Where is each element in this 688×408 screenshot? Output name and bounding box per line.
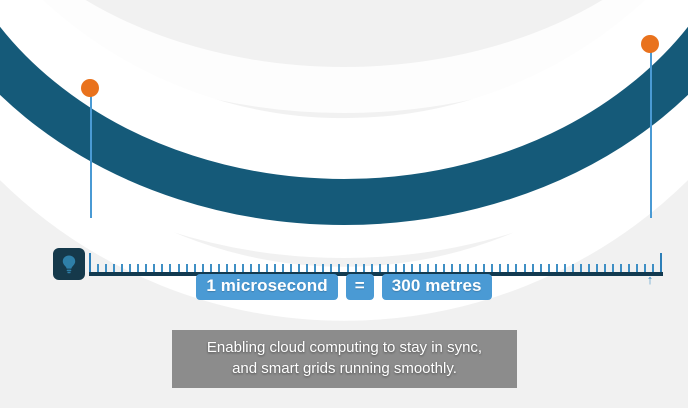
right-marker-dot (641, 35, 659, 53)
right-marker-line (650, 52, 652, 218)
video-frame: ↑ 1 microsecond = 300 metres Enabling cl… (0, 0, 688, 408)
subtitle-caption: Enabling cloud computing to stay in sync… (172, 330, 517, 388)
caption-line-1: Enabling cloud computing to stay in sync… (178, 337, 511, 358)
caption-line-2: and smart grids running smoothly. (178, 358, 511, 379)
left-marker-dot (81, 79, 99, 97)
equation-row: 1 microsecond = 300 metres (0, 274, 688, 300)
lightbulb-icon (60, 254, 78, 274)
ruler-tick-major (660, 253, 662, 273)
badge-distance-value: 300 metres (382, 274, 492, 300)
left-marker-line (90, 96, 92, 218)
badge-time-value: 1 microsecond (196, 274, 337, 300)
ruler-tick-major (89, 253, 91, 273)
badge-equals: = (346, 274, 374, 300)
